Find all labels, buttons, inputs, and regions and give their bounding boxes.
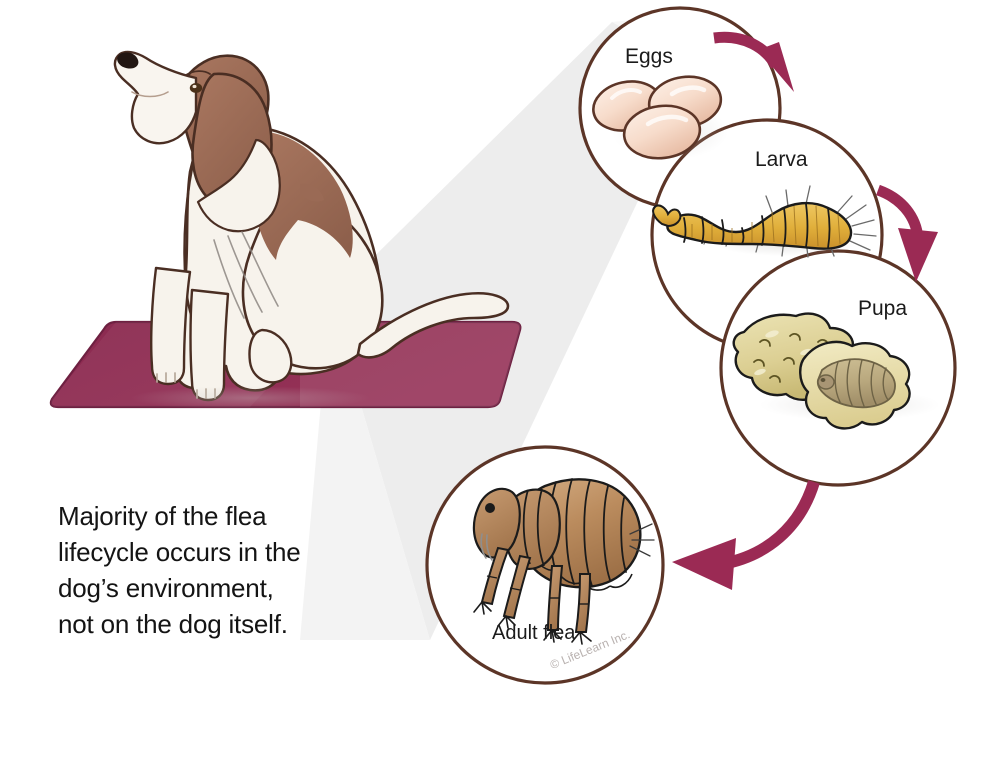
caption-line-1: Majority of the flea — [58, 498, 388, 534]
stage-label-larva: Larva — [755, 148, 808, 172]
arrow-pupa-to-adult — [672, 482, 814, 590]
stage-label-adult-flea: Adult flea — [492, 622, 575, 645]
stage-label-pupa: Pupa — [858, 297, 907, 321]
flea-lifecycle-figure: Eggs Larva Pupa Adult flea Majority of t… — [0, 0, 1000, 779]
stage-label-eggs: Eggs — [625, 45, 673, 69]
caption-text: Majority of the flea lifecycle occurs in… — [58, 498, 388, 642]
caption-line-2: lifecycle occurs in the — [58, 534, 388, 570]
caption-line-3: dog’s environment, — [58, 570, 388, 606]
caption-line-4: not on the dog itself. — [58, 606, 388, 642]
illustration-layer — [0, 0, 1000, 779]
